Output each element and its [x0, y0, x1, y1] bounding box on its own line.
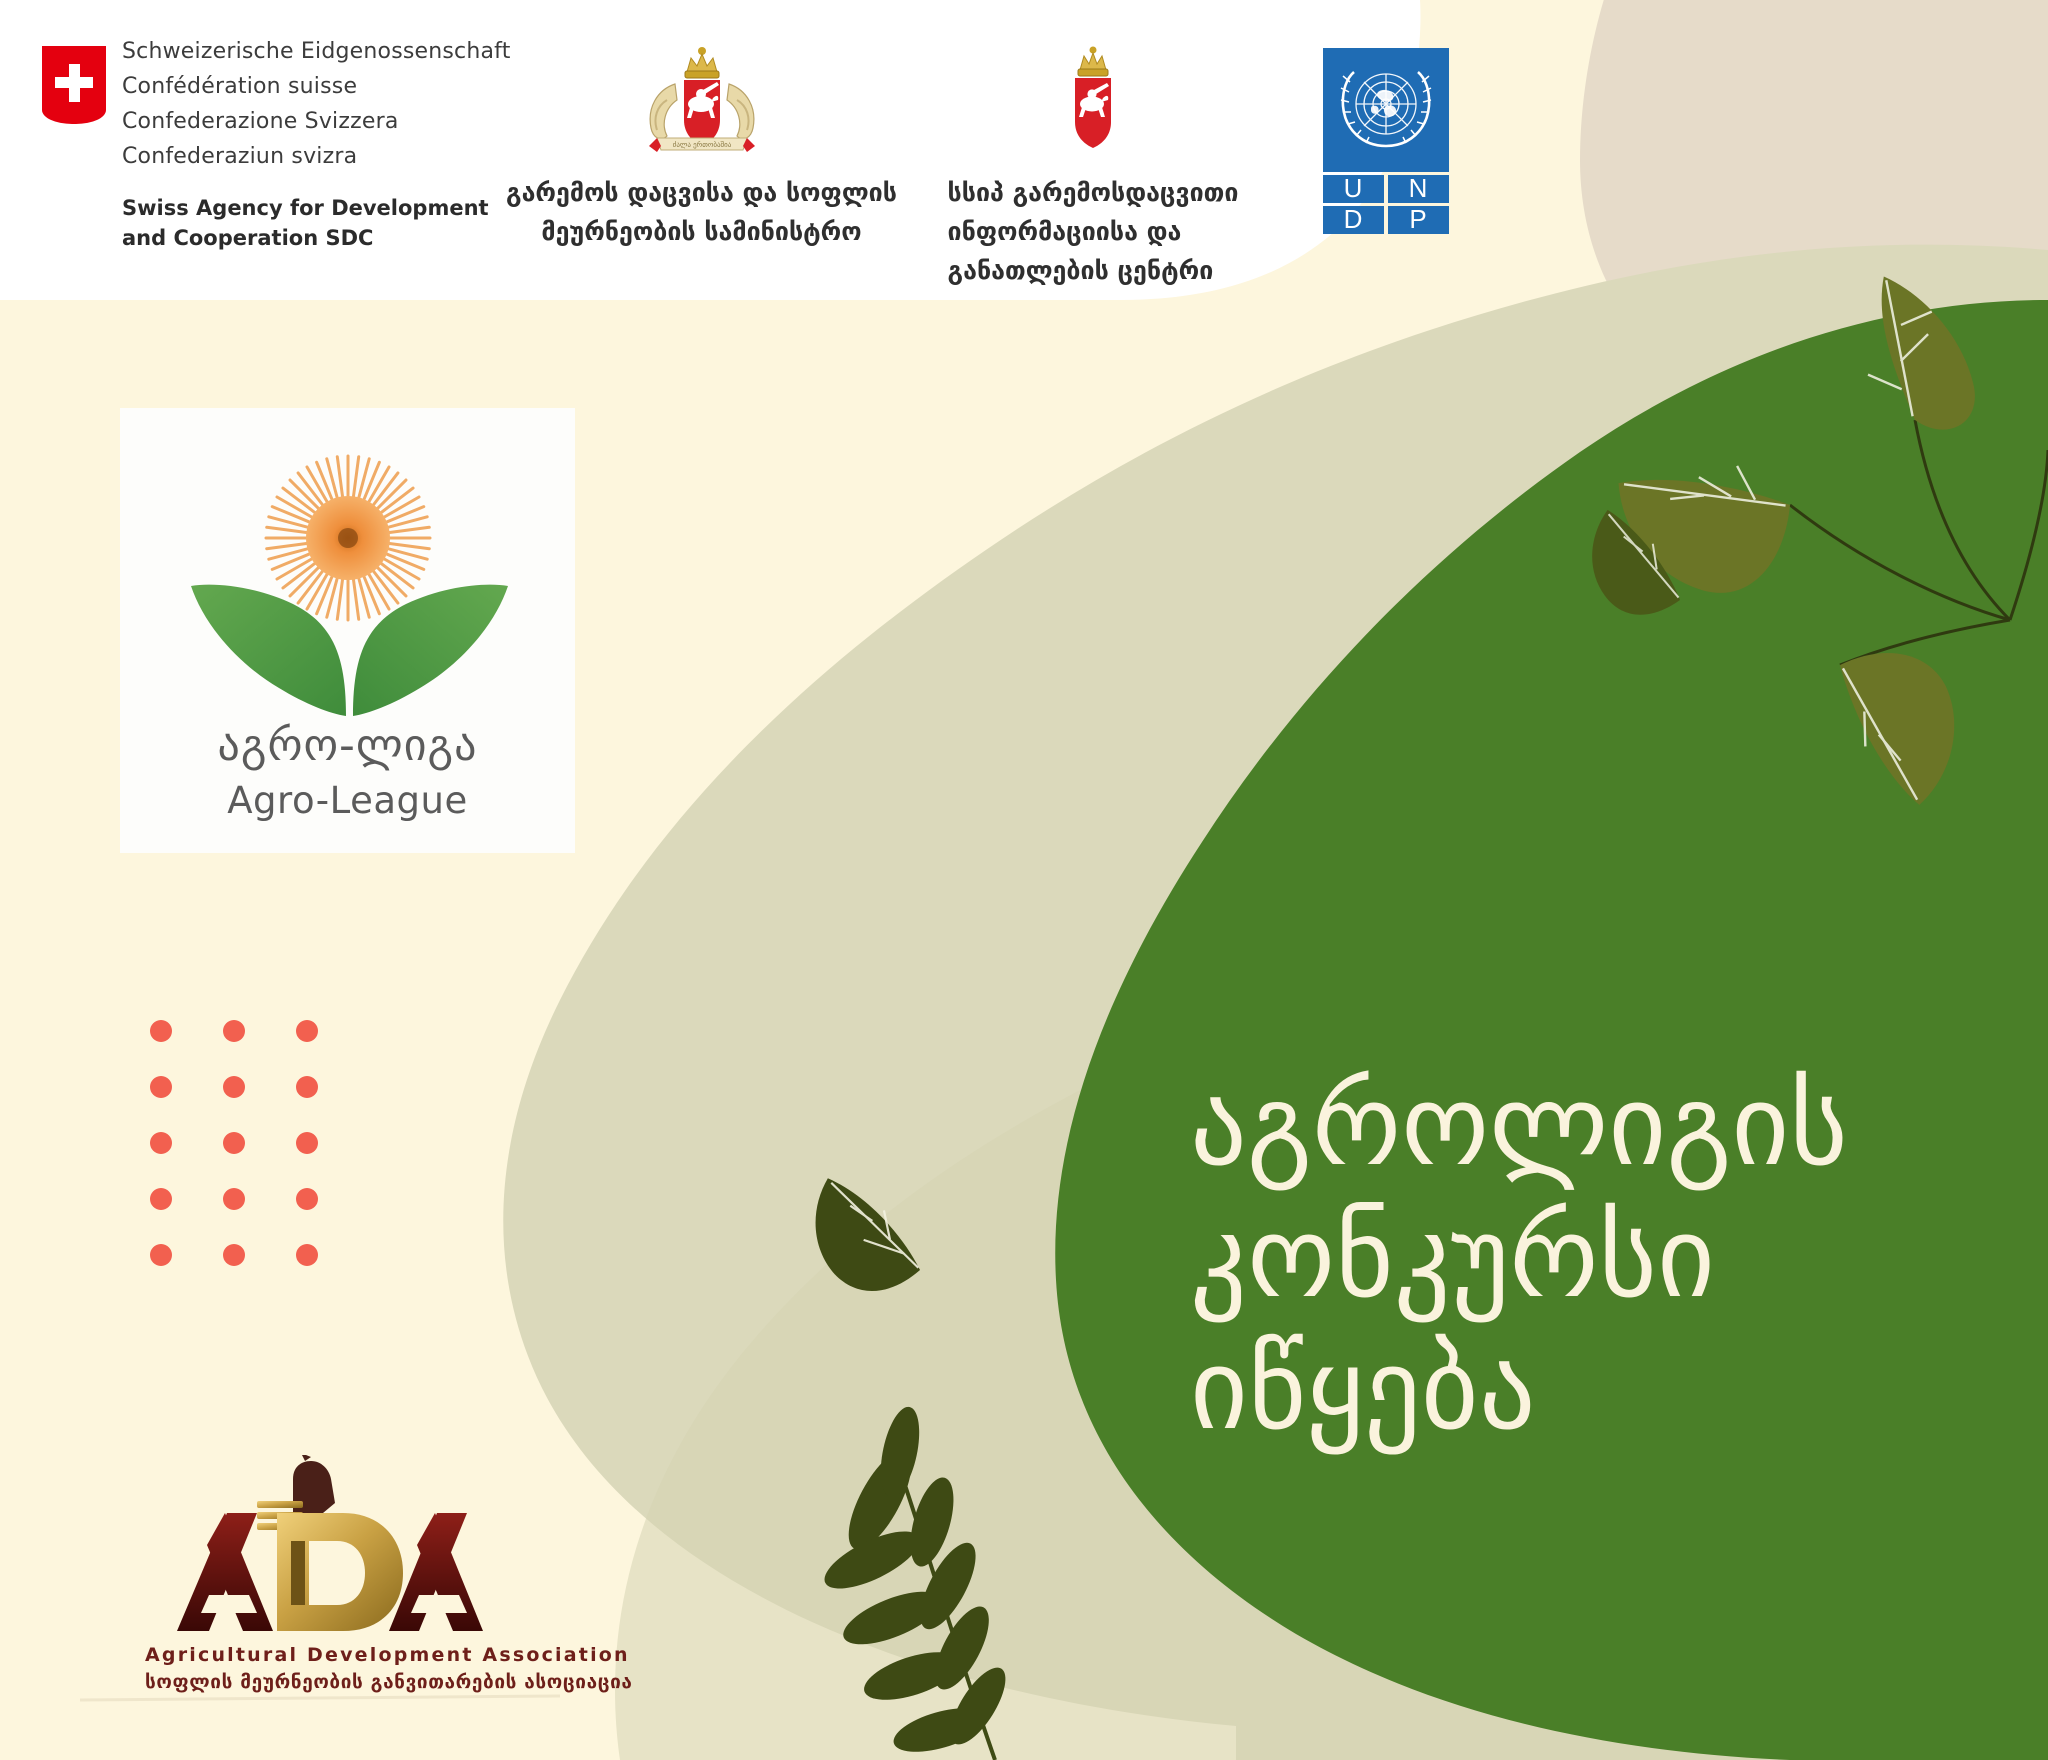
- georgia-shield-icon: [1047, 42, 1139, 158]
- dot: [150, 1188, 172, 1210]
- swiss-confederation-names: Schweizerische Eidgenossenschaft Confédé…: [122, 38, 511, 171]
- ada-name-en: Agricultural Development Association: [145, 1644, 515, 1666]
- dot: [150, 1020, 172, 1042]
- dot: [296, 1020, 318, 1042]
- dot: [150, 1244, 172, 1266]
- dot: [296, 1132, 318, 1154]
- logo-undp: U N D P: [1323, 48, 1449, 238]
- decorative-dot-grid: [150, 1020, 369, 1300]
- ada-name-ka: სოფლის მეურნეობის განვითარების ასოციაცია: [145, 1671, 515, 1693]
- svg-text:N: N: [1409, 173, 1428, 203]
- agro-league-logo-card: აგრო-ლიგა Agro-League: [120, 408, 575, 853]
- swiss-agency-line: Swiss Agency for Development: [122, 193, 511, 223]
- centre-line: სსიპ გარემოსდაცვითი: [948, 176, 1239, 209]
- dot: [223, 1020, 245, 1042]
- svg-text:ძალა ერთობაშია: ძალა ერთობაშია: [672, 140, 731, 149]
- dot: [150, 1076, 172, 1098]
- swiss-flag-icon: [42, 46, 106, 124]
- logo-ministry-environment-agriculture: ძალა ერთობაშია გარემოს დაცვისა და სოფლის…: [494, 38, 909, 254]
- centre-line: ინფორმაციისა და: [948, 215, 1239, 248]
- swiss-line: Schweizerische Eidgenossenschaft: [122, 38, 511, 66]
- logo-ada: Agricultural Development Association სოფ…: [145, 1455, 515, 1693]
- swiss-line: Confederazione Svizzera: [122, 108, 511, 136]
- undp-letters: U N D P: [1323, 173, 1449, 234]
- ministry-name: გარემოს დაცვისა და სოფლის მეურნეობის სამ…: [506, 176, 897, 254]
- dot: [223, 1244, 245, 1266]
- leaf-left-shape: [191, 585, 346, 716]
- poster-canvas: Schweizerische Eidgenossenschaft Confédé…: [0, 0, 2048, 1760]
- dot: [296, 1076, 318, 1098]
- swiss-agency-line: and Cooperation SDC: [122, 223, 511, 253]
- poster-headline: აგროლიგის კონკურსი იწყება: [1190, 1060, 1990, 1456]
- partner-logo-header: Schweizerische Eidgenossenschaft Confédé…: [0, 0, 1530, 300]
- ministry-line: მეურნეობის სამინისტრო: [506, 215, 897, 248]
- georgia-coat-of-arms-icon: ძალა ერთობაშია: [627, 42, 777, 158]
- headline-line: იწყება: [1190, 1324, 1990, 1456]
- dot: [223, 1076, 245, 1098]
- svg-text:U: U: [1344, 173, 1363, 203]
- swiss-line: Confederaziun svizra: [122, 143, 511, 171]
- dot: [223, 1188, 245, 1210]
- dot: [150, 1132, 172, 1154]
- swiss-line: Confédération suisse: [122, 73, 511, 101]
- headline-line: აგროლიგის: [1190, 1060, 1990, 1192]
- sunflower-sprout-icon: [183, 426, 513, 726]
- undp-logo-icon: U N D P: [1323, 48, 1449, 234]
- agro-league-name-ka: აგრო-ლიგა: [218, 720, 478, 771]
- centre-line: განათლების ცენტრი: [948, 254, 1239, 287]
- agro-league-name-en: Agro-League: [227, 779, 467, 822]
- svg-text:D: D: [1344, 204, 1363, 234]
- dot: [296, 1188, 318, 1210]
- logo-environmental-education-centre: სსიპ გარემოსდაცვითი ინფორმაციისა და განა…: [923, 38, 1263, 293]
- headline-line: კონკურსი: [1190, 1192, 1990, 1324]
- centre-name: სსიპ გარემოსდაცვითი ინფორმაციისა და განა…: [948, 176, 1239, 293]
- ada-eagle-monogram-icon: [165, 1455, 495, 1650]
- dot: [296, 1244, 318, 1266]
- logo-swiss-sdc: Schweizerische Eidgenossenschaft Confédé…: [42, 38, 472, 253]
- svg-text:P: P: [1409, 204, 1426, 234]
- swiss-agency-name: Swiss Agency for Development and Coopera…: [122, 193, 511, 253]
- ministry-line: გარემოს დაცვისა და სოფლის: [506, 176, 897, 209]
- dot: [223, 1132, 245, 1154]
